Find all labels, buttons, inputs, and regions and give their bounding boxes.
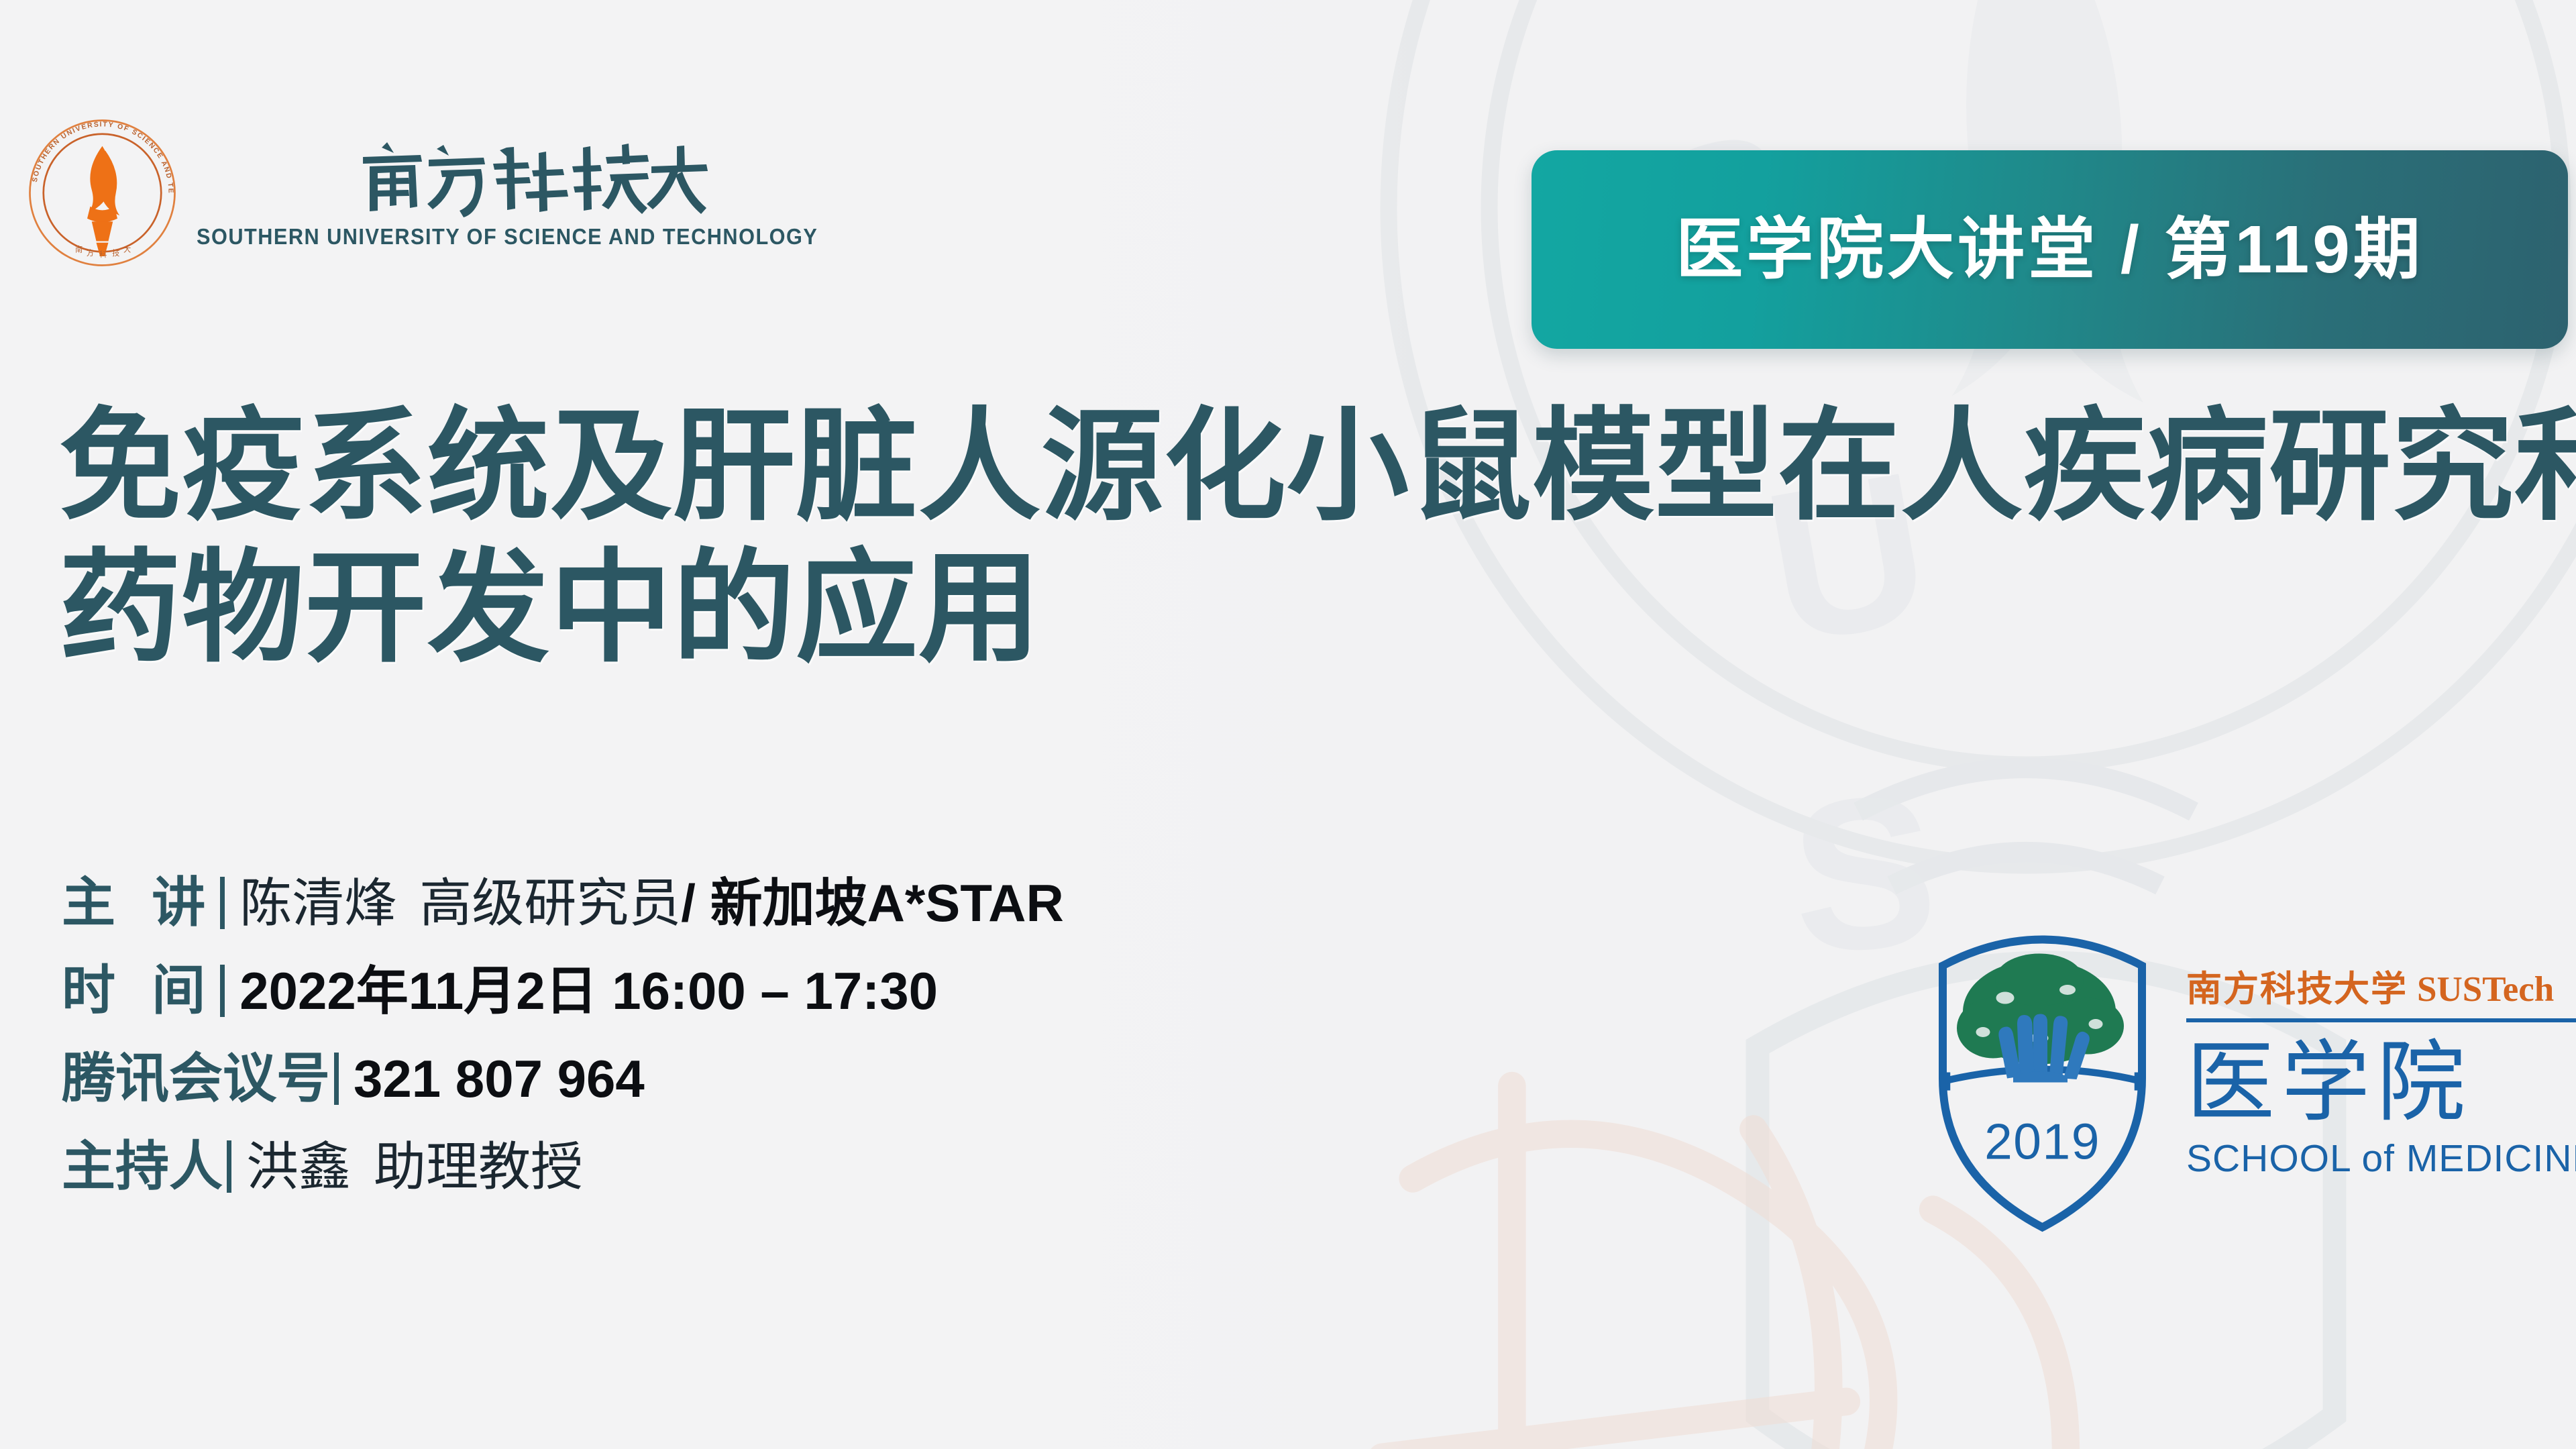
meeting-id-label: 腾讯会议号 — [62, 1048, 330, 1110]
svg-text:科: 科 — [99, 250, 107, 259]
time-value: 2022年11月2日 16:00 – 17:30 — [239, 961, 938, 1022]
shield-year-text: 2019 — [1984, 1114, 2100, 1170]
school-name-en: SCHOOL of MEDICINE — [2186, 1136, 2576, 1181]
meeting-id-value: 321 807 964 — [354, 1049, 645, 1110]
meeting-id-separator — [334, 1053, 339, 1105]
lecture-title: 免疫系统及肝脏人源化小鼠模型在人疾病研究和 药物开发中的应用 — [59, 396, 2192, 679]
shield-tree-hand-icon: 2019 — [1927, 918, 2158, 1233]
host-name: 洪鑫 — [246, 1137, 351, 1197]
series-banner-text: 医学院大讲堂 / 第119期 — [1676, 216, 2424, 283]
time-separator — [220, 965, 225, 1017]
svg-text:大: 大 — [123, 244, 131, 254]
school-university-line: 南方科技大学SUSTech — [2186, 970, 2576, 1009]
host-separator — [227, 1140, 231, 1193]
sustech-torch-seal-icon: SOUTHERN UNIVERSITY OF SCIENCE AND TECHN… — [27, 117, 178, 268]
host-label: 主持人 — [62, 1136, 223, 1197]
university-logo: SOUTHERN UNIVERSITY OF SCIENCE AND TECHN… — [27, 117, 865, 268]
university-wordmark-en: SOUTHERN UNIVERSITY OF SCIENCE AND TECHN… — [197, 224, 818, 250]
svg-text:S: S — [1784, 749, 1944, 998]
speaker-affiliation: / 新加坡A*STAR — [681, 873, 1064, 934]
speaker-label: 主 讲 — [62, 872, 216, 934]
detail-row-time: 时 间 2022年11月2日 16:00 – 17:30 — [62, 957, 1605, 1022]
series-banner: 医学院大讲堂 / 第119期 — [1532, 150, 2568, 349]
host-title: 助理教授 — [374, 1137, 583, 1197]
school-of-medicine-logo: 2019 南方科技大学SUSTech 医学院 SCHOOL of MEDICIN… — [1927, 918, 2576, 1233]
lecture-details: 主 讲 陈清烽 高级研究员 / 新加坡A*STAR 时 间 2022年11月2日… — [62, 869, 1605, 1197]
university-wordmark: SOUTHERN UNIVERSITY OF SCIENCE AND TECHN… — [197, 137, 865, 250]
school-university-en: SUSTech — [2417, 970, 2554, 1009]
school-name-cn: 医学院 — [2186, 1033, 2576, 1132]
speaker-name: 陈清烽 — [239, 873, 396, 934]
detail-row-meeting-id: 腾讯会议号 321 807 964 — [62, 1044, 1605, 1110]
lecture-poster: S U S SOUTHER — [0, 0, 2576, 1449]
title-line-1: 免疫系统及肝脏人源化小鼠模型在人疾病研究和 — [59, 396, 2192, 537]
speaker-title: 高级研究员 — [419, 873, 681, 934]
speaker-separator — [220, 877, 225, 929]
university-wordmark-cn-icon — [197, 137, 865, 217]
school-university-cn: 南方科技大学 — [2186, 969, 2408, 1009]
time-label: 时 间 — [62, 960, 216, 1022]
school-of-medicine-text: 南方科技大学SUSTech 医学院 SCHOOL of MEDICINE — [2186, 970, 2576, 1181]
title-line-2: 药物开发中的应用 — [59, 537, 2192, 679]
school-logo-divider — [2186, 1018, 2576, 1022]
detail-row-speaker: 主 讲 陈清烽 高级研究员 / 新加坡A*STAR — [62, 869, 1605, 934]
svg-text:方: 方 — [87, 248, 94, 258]
svg-text:南: 南 — [75, 245, 83, 254]
svg-text:技: 技 — [112, 249, 119, 258]
detail-row-host: 主持人 洪鑫 助理教授 — [62, 1132, 1605, 1197]
